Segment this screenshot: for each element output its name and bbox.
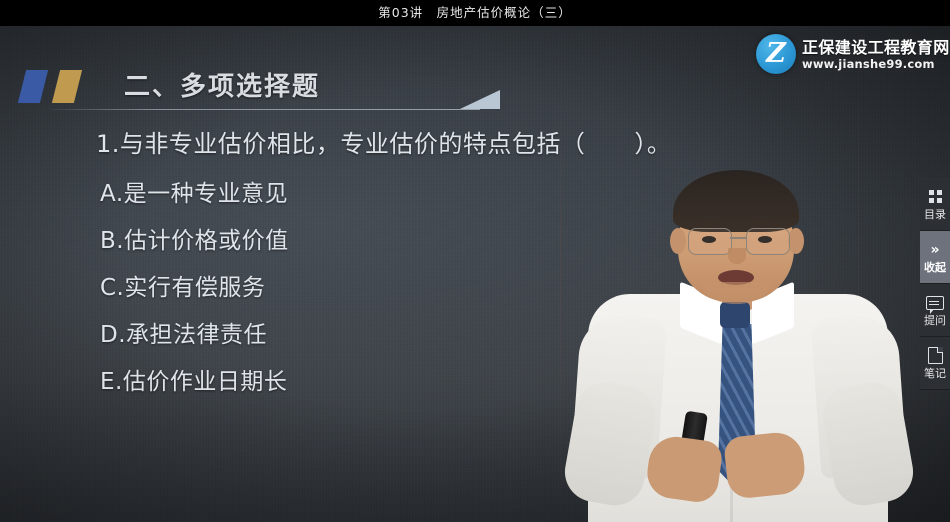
option-b: B.估计价格或价值 (100, 221, 289, 255)
logo-letter: Z (756, 34, 796, 74)
presenter-ear-right (788, 228, 804, 254)
logo-site-url: www.jianshe99.com (802, 57, 950, 71)
sidebar-label-ask: 提问 (924, 314, 946, 327)
logo-site-name: 正保建设工程教育网 (802, 38, 950, 57)
video-title-bar: 第03讲 房地产估价概论（三） (0, 0, 950, 26)
option-e: E.估价作业日期长 (100, 362, 287, 396)
sidebar-label-notes: 笔记 (924, 367, 946, 380)
speech-bubble-icon (926, 294, 944, 312)
sidebar-label-collapse: 收起 (924, 261, 946, 274)
site-logo: Z 正保建设工程教育网 www.jianshe99.com (756, 34, 950, 74)
logo-mark-icon: Z (756, 34, 796, 74)
sidebar-label-catalog: 目录 (924, 208, 946, 221)
option-a: A.是一种专业意见 (100, 174, 288, 208)
presenter-glasses-left (688, 228, 732, 255)
lecture-title: 第03讲 房地产估价概论（三） (0, 0, 950, 26)
presenter-nose (728, 248, 746, 264)
presenter-glasses-bridge (730, 237, 746, 239)
grid-icon (929, 188, 942, 206)
slide-heading-block: 二、多项选择题 (20, 68, 490, 113)
right-side-toolbar: 目录 » 收起 提问 笔记 (920, 178, 950, 390)
option-d: D.承担法律责任 (100, 315, 267, 349)
sidebar-item-ask[interactable]: 提问 (920, 284, 950, 337)
heading-accent-gold (52, 70, 82, 103)
slide-heading: 二、多项选择题 (124, 66, 320, 103)
sidebar-item-collapse[interactable]: » 收起 (920, 231, 950, 284)
sidebar-item-notes[interactable]: 笔记 (920, 337, 950, 390)
question-text: 1.与非专业估价相比，专业估价的特点包括（ ）。 (96, 124, 671, 159)
presenter-tie-knot (720, 302, 750, 328)
heading-arrow-icon (460, 90, 500, 109)
lecture-stage: 二、多项选择题 1.与非专业估价相比，专业估价的特点包括（ ）。 A.是一种专业… (0, 26, 950, 522)
heading-accent-blue (18, 70, 48, 103)
chevron-right-double-icon: » (930, 241, 939, 259)
logo-text-block: 正保建设工程教育网 www.jianshe99.com (802, 38, 950, 71)
option-c: C.实行有偿服务 (100, 268, 265, 302)
presenter-hair (673, 170, 799, 232)
presenter-ear-left (670, 228, 686, 254)
sidebar-item-catalog[interactable]: 目录 (920, 178, 950, 231)
note-icon (928, 347, 943, 365)
heading-underline (52, 109, 480, 110)
presenter-glasses-right (746, 228, 790, 255)
video-player-screen: 二、多项选择题 1.与非专业估价相比，专业估价的特点包括（ ）。 A.是一种专业… (0, 0, 950, 522)
presenter-figure (560, 166, 940, 522)
